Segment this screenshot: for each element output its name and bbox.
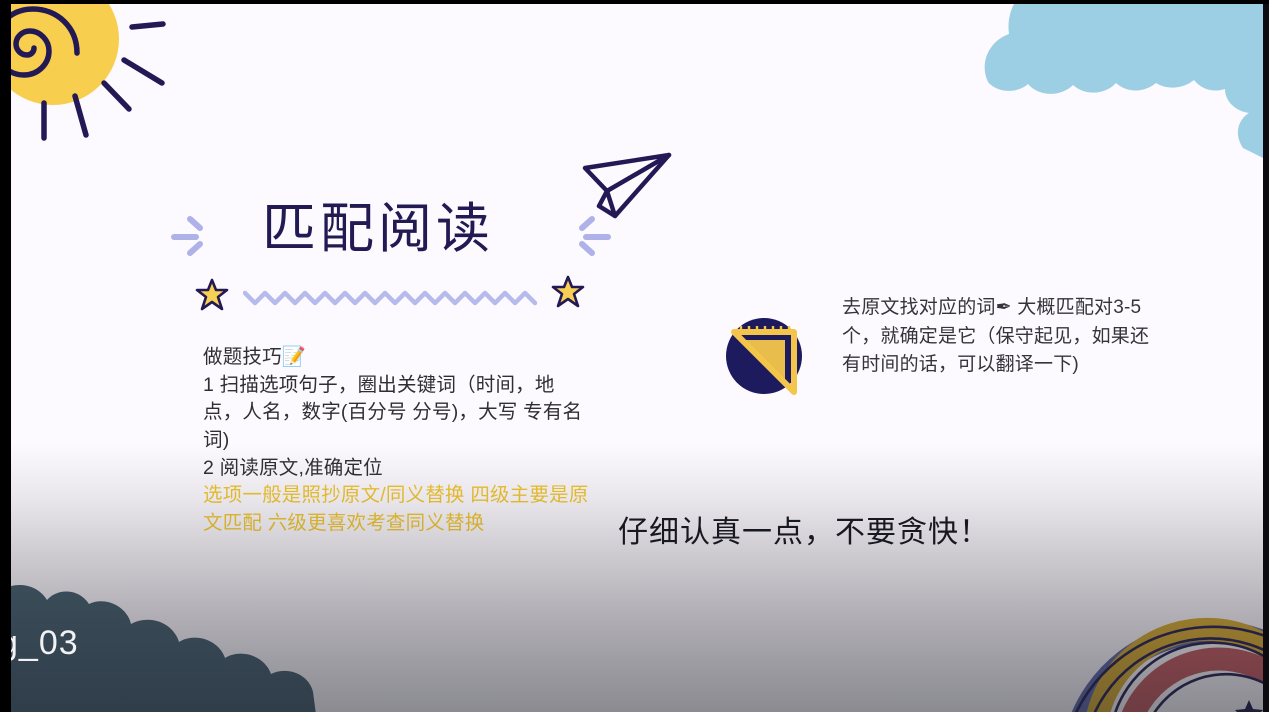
letterbox-left: [0, 0, 11, 712]
slide-stage: 匹配阅读 做题技巧📝 1 扫描选项句子，圈出关键词（时间，地点，人名，数字(百分…: [0, 0, 1269, 712]
right-note-text-before: 去原文找对应的词: [842, 297, 996, 318]
pencil-icon: ✒: [996, 297, 1012, 318]
triangle-ruler-icon: [721, 313, 807, 399]
pencil-icon: 📝: [282, 346, 306, 368]
sparkle-icon-right: [574, 211, 614, 259]
right-note: 去原文找对应的词✒ 大概匹配对3-5个，就确定是它（保守起见，如果还有时间的话，…: [842, 294, 1160, 380]
sparkle-icon-left: [168, 211, 208, 259]
star-icon-left: [195, 278, 229, 312]
tips-line-1: 1 扫描选项句子，圈出关键词（时间，地点，人名，数字(百分号 分号)，大写 专有…: [203, 372, 593, 455]
letterbox-right: [1263, 0, 1269, 712]
slide-canvas: 匹配阅读 做题技巧📝 1 扫描选项句子，圈出关键词（时间，地点，人名，数字(百分…: [11, 3, 1263, 712]
sun-spiral-icon: [11, 3, 141, 127]
tips-block: 做题技巧📝 1 扫描选项句子，圈出关键词（时间，地点，人名，数字(百分号 分号)…: [203, 344, 593, 538]
page-title: 匹配阅读: [262, 201, 494, 258]
rainbow-icon: [1063, 582, 1263, 712]
star-icon-right: [551, 275, 585, 309]
bottom-headline: 仔细认真一点，不要贪快！: [618, 507, 990, 551]
watermark: g_03: [11, 624, 79, 663]
wave-line-icon: [243, 287, 539, 309]
tips-heading: 做题技巧📝: [203, 344, 593, 372]
tips-heading-label: 做题技巧: [203, 346, 282, 368]
tips-line-2: 2 阅读原文,准确定位: [203, 455, 593, 483]
tips-highlight-1: 选项一般是照抄原文/同义替换 四级主要是原文匹配 六级更喜欢考查同义替换: [203, 482, 593, 537]
cloud-icon-top-right: [913, 3, 1263, 163]
letterbox-top: [0, 0, 1269, 4]
